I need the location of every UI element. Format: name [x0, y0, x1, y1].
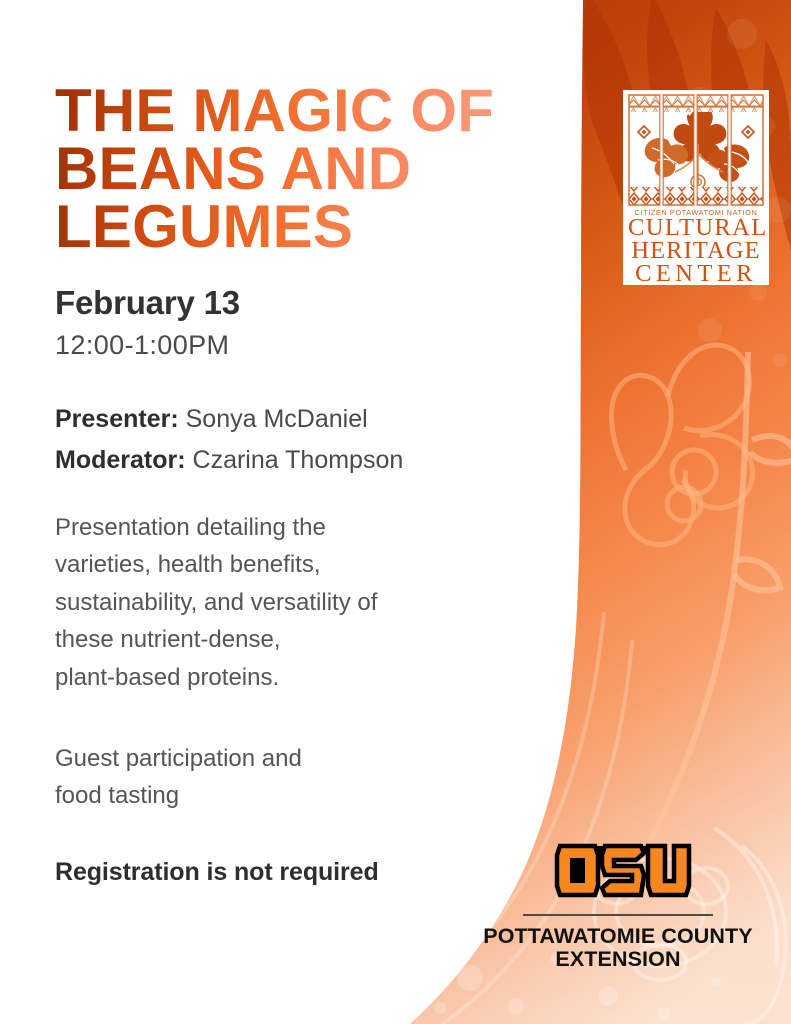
osu-unit-name: POTTAWATOMIE COUNTY EXTENSION	[468, 925, 768, 971]
note-line-2: food tasting	[55, 777, 495, 814]
osu-divider-rule	[523, 914, 713, 916]
description-line-2: varieties, health benefits,	[55, 546, 515, 583]
page-title: THE MAGIC OF BEANS AND LEGUMES	[55, 82, 535, 257]
description-line-4: these nutrient-dense,	[55, 621, 515, 658]
moderator-label: Moderator:	[55, 446, 186, 474]
osu-extension-logo: POTTAWATOMIE COUNTY EXTENSION	[468, 838, 768, 971]
event-date: February 13	[55, 284, 240, 322]
event-note: Guest participation and food tasting	[55, 740, 495, 815]
chc-word-center: CENTER	[628, 263, 764, 286]
osu-name-line-1: POTTAWATOMIE COUNTY	[468, 925, 768, 948]
chc-wordmark: CITIZEN POTAWATOMI NATION CULTURAL HERIT…	[628, 208, 764, 285]
moderator-name: Czarina Thompson	[193, 446, 404, 474]
title-line-3: LEGUMES	[55, 198, 535, 256]
presenter-label: Presenter:	[55, 405, 179, 433]
osu-name-line-2: EXTENSION	[468, 948, 768, 971]
event-description: Presentation detailing the varieties, he…	[55, 509, 515, 696]
credits-block: Presenter: Sonya McDaniel Moderator: Cza…	[55, 404, 525, 486]
cultural-heritage-center-logo: CITIZEN POTAWATOMI NATION CULTURAL HERIT…	[623, 90, 769, 285]
presenter-line: Presenter: Sonya McDaniel	[55, 404, 525, 434]
description-line-5: plant-based proteins.	[55, 659, 515, 696]
flyer-page: THE MAGIC OF BEANS AND LEGUMES February …	[0, 0, 791, 1024]
event-time: 12:00-1:00PM	[55, 330, 229, 361]
description-line-3: sustainability, and versatility of	[55, 584, 515, 621]
title-line-2: BEANS AND	[55, 140, 535, 198]
registration-notice: Registration is not required	[55, 858, 379, 887]
osu-brandmark-icon	[543, 838, 693, 904]
presenter-name: Sonya McDaniel	[186, 405, 368, 433]
flyer-content: THE MAGIC OF BEANS AND LEGUMES February …	[55, 0, 525, 1024]
title-line-1: THE MAGIC OF	[55, 82, 535, 140]
note-line-1: Guest participation and	[55, 740, 495, 777]
moderator-line: Moderator: Czarina Thompson	[55, 445, 525, 475]
chc-floral-artwork	[628, 94, 764, 206]
description-line-1: Presentation detailing the	[55, 509, 515, 546]
